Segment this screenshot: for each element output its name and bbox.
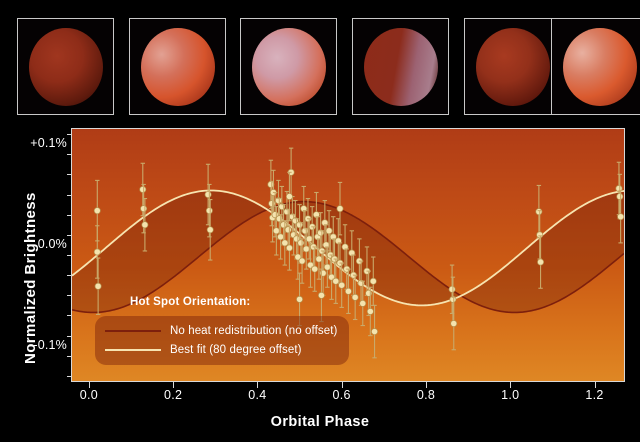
phase-panel-4: [352, 18, 449, 115]
x-axis-tick-label: 0.4: [227, 388, 287, 402]
x-axis-tick-mark: [89, 382, 90, 388]
legend-line-swatch: [105, 330, 161, 332]
planet-phase-strip: [0, 0, 640, 128]
y-axis-tick-mark: [67, 195, 71, 196]
x-axis-tick-mark: [426, 382, 427, 388]
x-axis-tick-label: 0.8: [396, 388, 456, 402]
x-axis-tick-mark: [257, 382, 258, 388]
data-point: [536, 185, 542, 237]
x-axis-tick-mark: [342, 382, 343, 388]
x-axis-tick-label: 0.6: [312, 388, 372, 402]
x-axis-tick-label: 0.2: [143, 388, 203, 402]
x-axis-tick-label: 0.0: [59, 388, 119, 402]
y-axis-tick-mark: [67, 235, 71, 236]
y-axis-tick-mark: [67, 376, 71, 377]
legend-entry: No heat redistribution (no offset): [105, 321, 337, 340]
y-axis-tick-mark: [67, 154, 71, 155]
legend-entry: Best fit (80 degree offset): [105, 340, 337, 359]
phase-panel-3: [240, 18, 337, 115]
x-axis-tick-mark: [510, 382, 511, 388]
phase-panel-5: [464, 18, 561, 115]
x-axis-label: Orbital Phase: [0, 414, 640, 430]
planet-disc: [29, 28, 103, 106]
planet-disc: [252, 28, 326, 106]
x-axis-tick-mark: [595, 382, 596, 388]
x-axis-tick-label: 1.2: [565, 388, 625, 402]
y-axis-tick-mark: [67, 295, 71, 296]
legend-box: No heat redistribution (no offset)Best f…: [95, 316, 349, 365]
legend-title: Hot Spot Orientation:: [130, 296, 250, 308]
phase-panel-2: [129, 18, 226, 115]
y-axis-label: Normalized Brightness: [22, 192, 39, 364]
legend-line-swatch: [105, 349, 161, 351]
legend-label: Best fit (80 degree offset): [170, 344, 302, 356]
legend-label: No heat redistribution (no offset): [170, 325, 337, 337]
y-axis-tick-mark: [67, 336, 71, 337]
x-axis-tick-mark: [173, 382, 174, 388]
planet-disc: [563, 28, 637, 106]
y-axis-tick-mark: [67, 275, 71, 276]
y-axis-tick-label: +0.1%: [5, 136, 67, 150]
y-axis-tick-mark: [67, 356, 71, 357]
y-axis-tick-mark: [67, 215, 71, 216]
phase-panel-6: [551, 18, 640, 115]
data-point: [312, 247, 318, 291]
planet-disc: [141, 28, 215, 106]
x-axis-tick-label: 1.0: [480, 388, 540, 402]
planet-disc: [476, 28, 550, 106]
planet-disc: [364, 28, 438, 106]
phase-panel-1: [17, 18, 114, 115]
data-point: [450, 277, 456, 321]
y-axis-tick-mark: [67, 134, 71, 135]
y-axis-tick-mark: [67, 174, 71, 175]
y-axis-tick-mark: [67, 315, 71, 316]
y-axis-tick-mark: [67, 255, 71, 256]
